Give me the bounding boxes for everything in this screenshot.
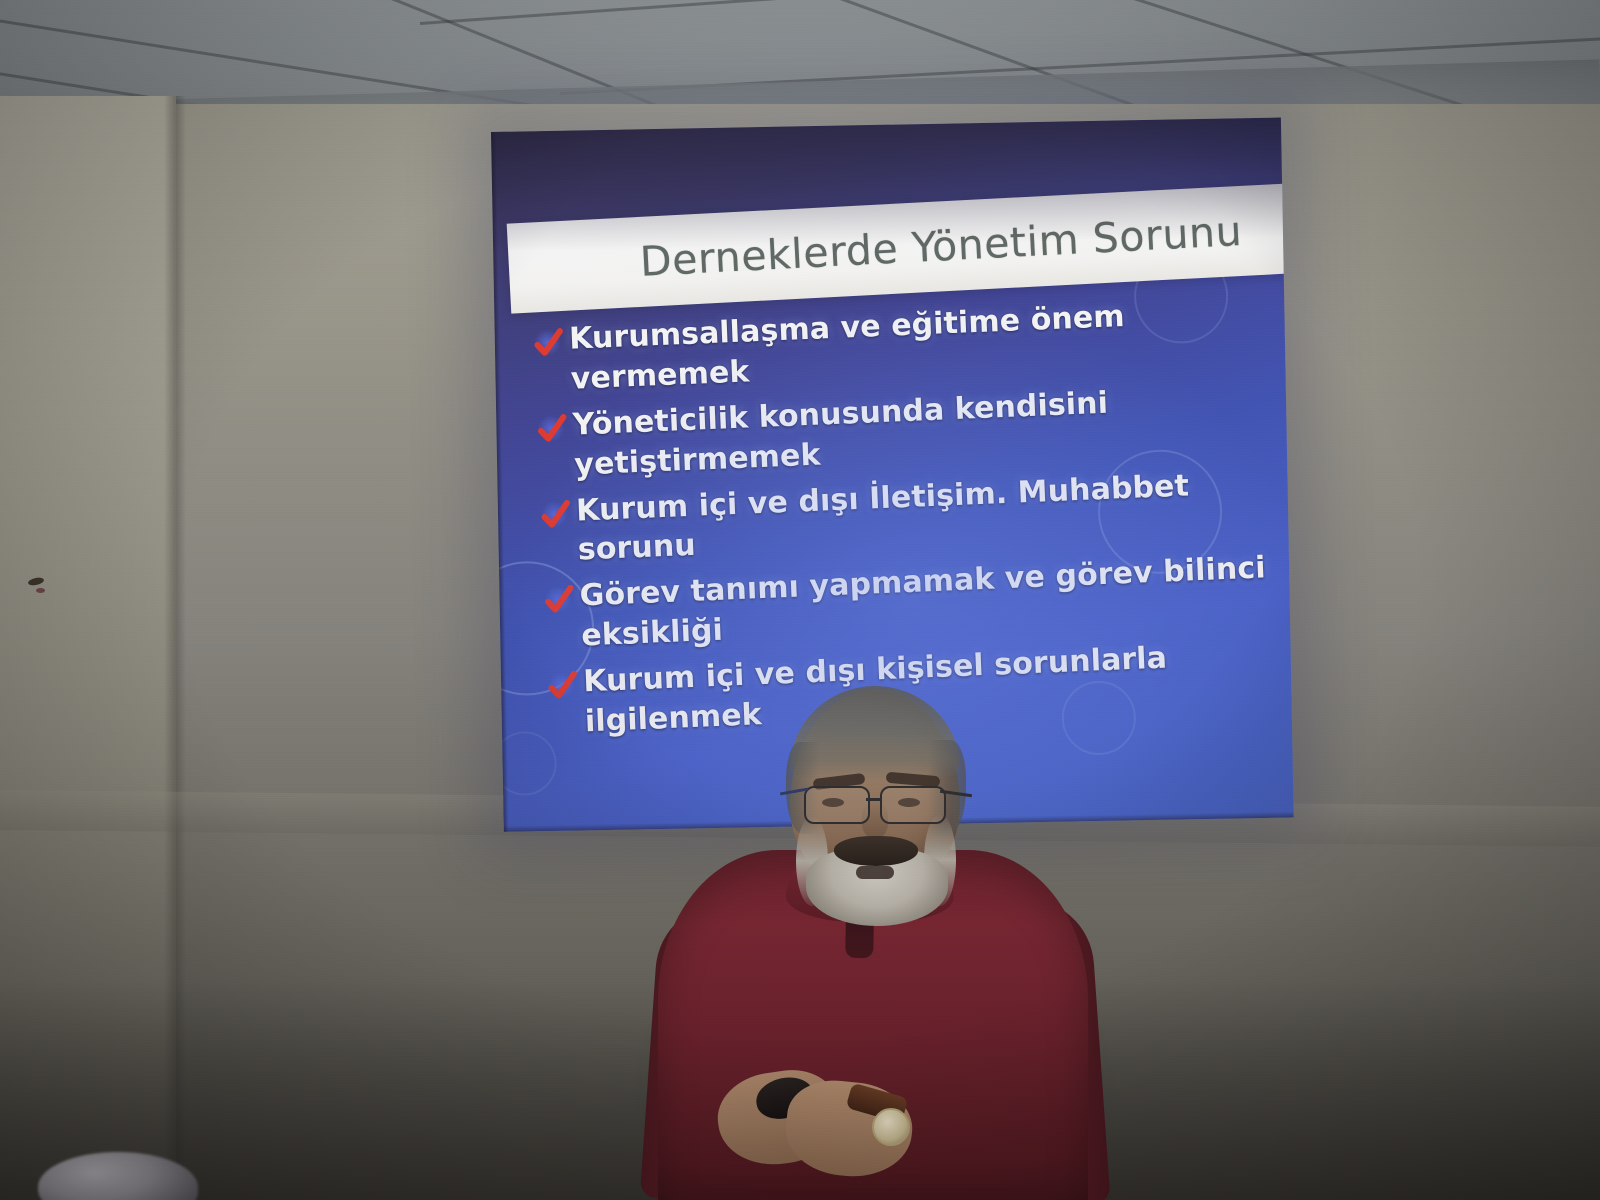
photo-scene: Derneklerde Yönetim Sorunu Kurumsallaşma… <box>0 0 1600 1200</box>
slide-title: Derneklerde Yönetim Sorunu <box>639 205 1287 286</box>
presenter <box>610 690 1130 1200</box>
check-mark-icon <box>534 412 569 447</box>
check-mark-icon <box>531 326 566 361</box>
mustache <box>834 836 918 866</box>
check-mark-icon <box>538 497 573 532</box>
slide-bullet-list: Kurumsallaşma ve eğitime önem vermemek Y… <box>530 292 1273 750</box>
wall-scuff-mark-secondary <box>36 588 45 593</box>
wristwatch-icon <box>872 1108 910 1146</box>
check-mark-icon <box>545 669 580 704</box>
check-mark-icon <box>541 583 576 618</box>
ceiling-grid-line <box>420 0 1600 25</box>
eyeglasses-icon <box>788 782 966 828</box>
eye-right <box>898 798 920 807</box>
mouth <box>856 866 894 879</box>
glasses-bridge <box>866 798 882 801</box>
eye-left <box>822 798 844 807</box>
